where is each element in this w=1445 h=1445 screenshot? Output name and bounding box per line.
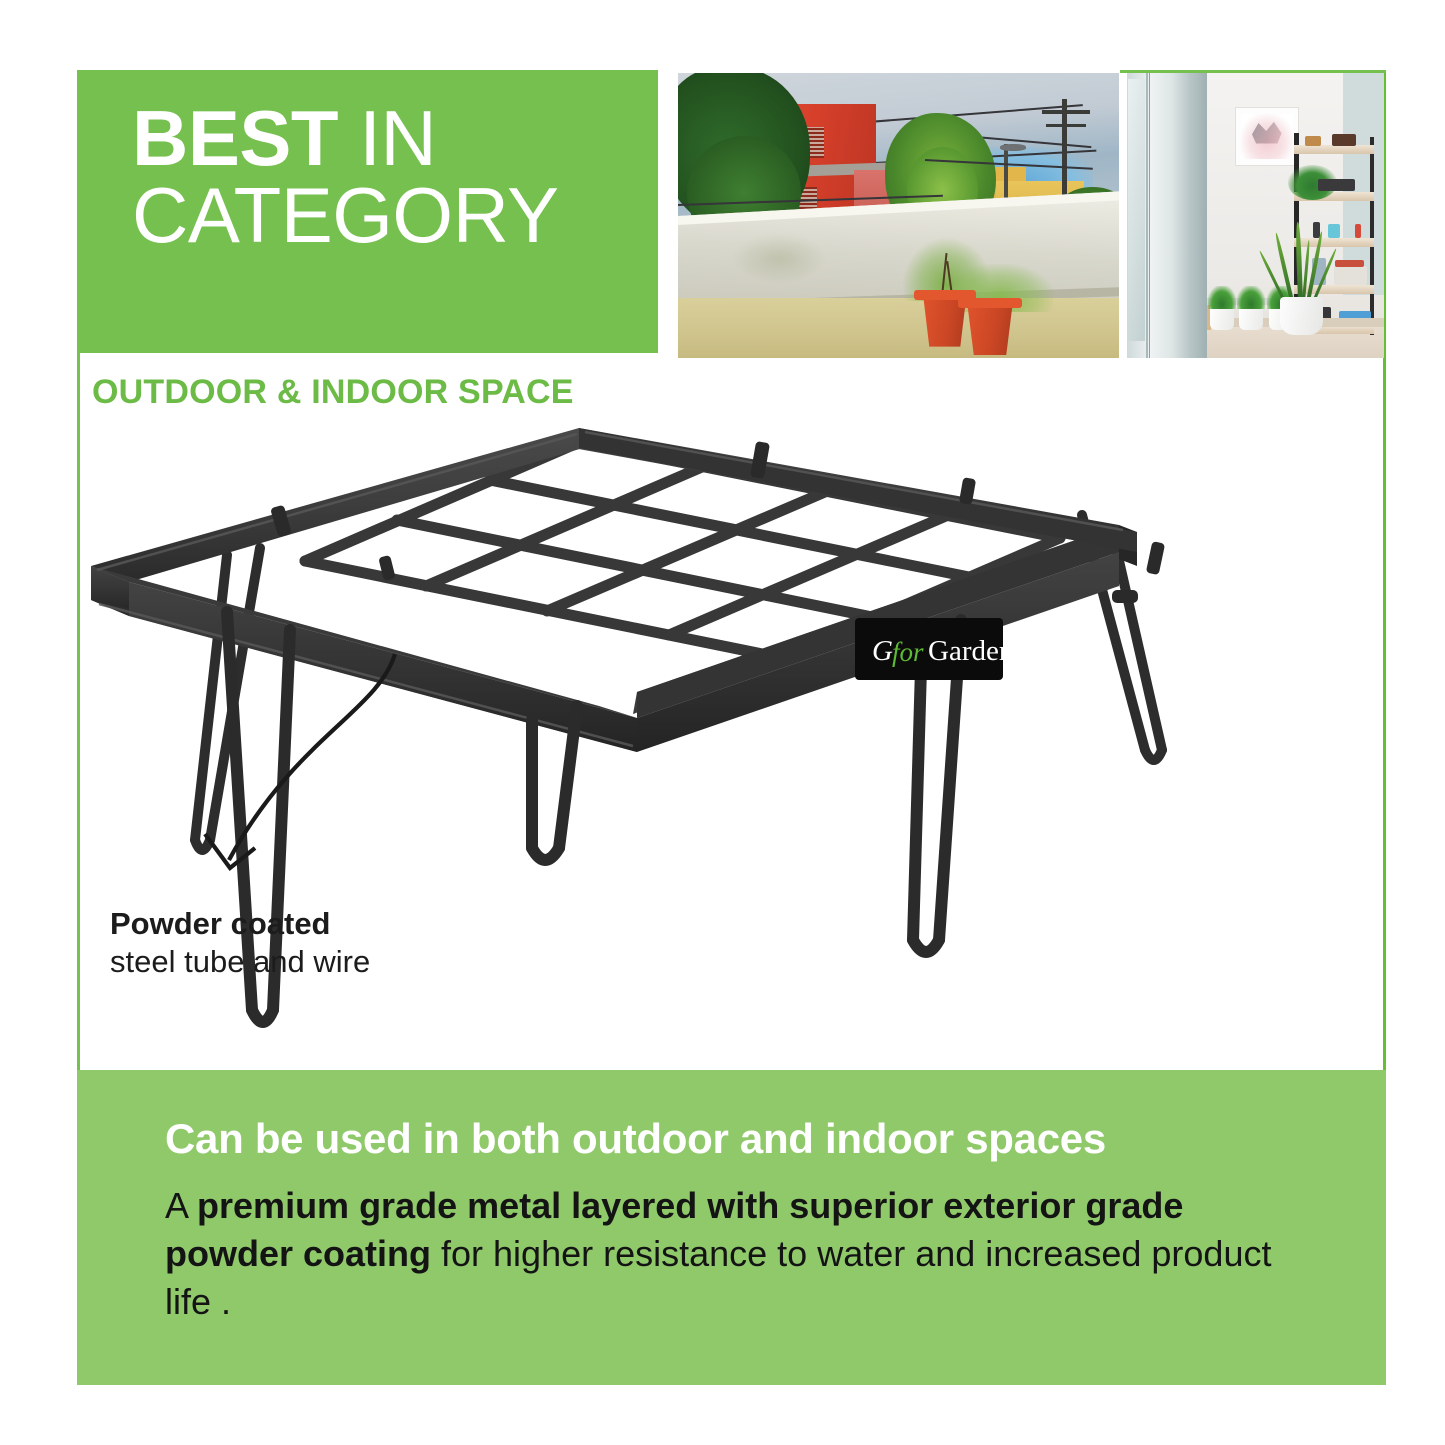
snake-leaf — [1295, 222, 1302, 302]
brand-plate: G for Garden — [855, 618, 1014, 680]
shelf-item — [1355, 224, 1361, 238]
small-white-pot — [1239, 306, 1263, 330]
red-pot-rim — [958, 298, 1022, 308]
framed-wall-art — [1235, 107, 1299, 166]
panel-heading: Can be used in both outdoor and indoor s… — [165, 1116, 1315, 1162]
panel-body: A premium grade metal layered with super… — [165, 1182, 1295, 1326]
description-panel: Can be used in both outdoor and indoor s… — [77, 1070, 1386, 1385]
badge-word-best: BEST — [132, 94, 338, 182]
snake-plant-pot — [1280, 297, 1323, 335]
badge-word-category: CATEGORY — [132, 171, 559, 259]
snake-leaf — [1274, 233, 1294, 303]
window-mullion — [1149, 73, 1150, 358]
brand-prefix: G — [872, 635, 893, 667]
window-mullion — [1146, 73, 1148, 358]
shelf-books — [1334, 266, 1367, 284]
window-glass — [1128, 79, 1146, 341]
infographic-page: BEST IN CATEGORY — [0, 0, 1445, 1445]
shelf-book-red — [1335, 260, 1364, 267]
badge-word-in: IN — [338, 94, 436, 182]
shelf-box — [1332, 134, 1356, 146]
best-in-category-badge: BEST IN CATEGORY — [77, 70, 658, 353]
terrace-floor — [678, 298, 1119, 358]
small-plant-foliage — [1237, 286, 1265, 309]
callout-line-1: Powder coated — [110, 905, 530, 943]
brand-script: for — [892, 637, 924, 667]
shelf-post-right — [1370, 137, 1374, 335]
shelf-board — [1294, 145, 1374, 154]
badge-title: BEST IN CATEGORY — [132, 100, 652, 254]
small-plant-foliage — [1208, 286, 1236, 309]
snake-plant — [1268, 207, 1335, 335]
section-subtitle: OUTDOOR & INDOOR SPACE — [92, 373, 574, 412]
window-frame — [1127, 73, 1207, 358]
outdoor-terrace-photo — [678, 73, 1119, 358]
callout-line-2: steel tube and wire — [110, 943, 530, 981]
small-white-pot — [1210, 306, 1234, 330]
shelf-speaker — [1318, 179, 1355, 190]
wall-stain — [731, 233, 828, 284]
shelf-box — [1305, 136, 1321, 146]
powder-coated-callout: Powder coated steel tube and wire — [110, 905, 530, 981]
brand-suffix: Garden — [928, 635, 1014, 667]
panel-body-text: A — [165, 1185, 197, 1226]
indoor-room-photo — [1127, 73, 1384, 358]
